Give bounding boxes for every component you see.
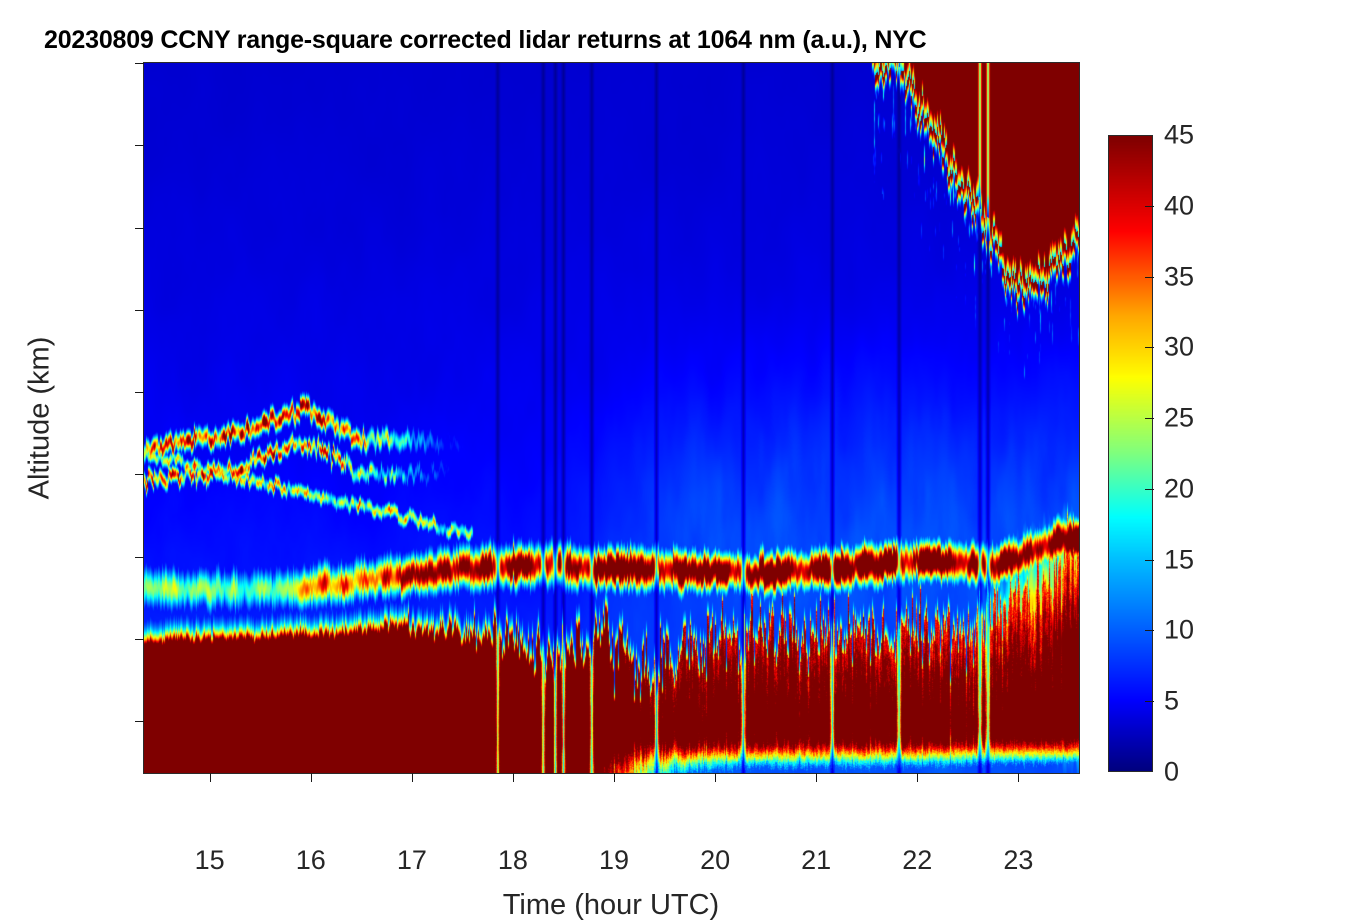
colorbar-tick-label: 30 — [1164, 332, 1194, 363]
colorbar-tick — [1145, 701, 1154, 702]
x-axis-label: Time (hour UTC) — [503, 889, 719, 922]
y-tick — [135, 721, 144, 722]
colorbar-tick-label: 15 — [1164, 544, 1194, 575]
y-tick — [135, 557, 144, 558]
colorbar-tick — [1145, 630, 1154, 631]
x-tick — [513, 773, 514, 782]
colorbar-tick-label: 20 — [1164, 473, 1194, 504]
x-tick — [311, 773, 312, 782]
colorbar-tick — [1145, 560, 1154, 561]
colorbar-tick-label: 35 — [1164, 261, 1194, 292]
colorbar-tick — [1145, 347, 1154, 348]
colorbar-tick-label: 10 — [1164, 615, 1194, 646]
colorbar-tick — [1145, 418, 1154, 419]
colorbar: 051015202530354045 — [1108, 135, 1153, 772]
colorbar-tick — [1145, 277, 1154, 278]
x-tick — [816, 773, 817, 782]
colorbar-tick-label: 5 — [1164, 686, 1179, 717]
x-tick — [412, 773, 413, 782]
colorbar-tick — [1145, 489, 1154, 490]
x-tick-label: 18 — [473, 845, 553, 876]
x-tick — [917, 773, 918, 782]
y-tick — [135, 392, 144, 393]
y-tick — [135, 228, 144, 229]
colorbar-tick-label: 0 — [1164, 757, 1179, 788]
x-tick — [1018, 773, 1019, 782]
y-tick — [135, 639, 144, 640]
x-tick-label: 22 — [877, 845, 957, 876]
y-axis-label: Altitude (km) — [24, 337, 57, 500]
y-tick — [135, 63, 144, 64]
page-title: 20230809 CCNY range-square corrected lid… — [44, 26, 927, 55]
x-tick — [715, 773, 716, 782]
x-tick-label: 19 — [574, 845, 654, 876]
x-tick-label: 16 — [271, 845, 351, 876]
plot-axes: 123456789 151617181920212223 Altitude (k… — [143, 62, 1080, 774]
x-tick — [614, 773, 615, 782]
x-tick-label: 15 — [170, 845, 250, 876]
y-tick — [135, 474, 144, 475]
x-tick-label: 17 — [372, 845, 452, 876]
colorbar-gradient — [1108, 135, 1153, 772]
colorbar-tick-label: 45 — [1164, 120, 1194, 151]
x-tick-label: 23 — [978, 845, 1058, 876]
y-tick — [135, 310, 144, 311]
colorbar-tick-label: 40 — [1164, 190, 1194, 221]
colorbar-tick-label: 25 — [1164, 403, 1194, 434]
heatmap-image — [144, 63, 1079, 773]
figure-root: 20230809 CCNY range-square corrected lid… — [0, 0, 1350, 900]
x-tick-label: 21 — [776, 845, 856, 876]
x-tick-label: 20 — [675, 845, 755, 876]
colorbar-tick — [1145, 206, 1154, 207]
x-tick — [210, 773, 211, 782]
y-tick — [135, 145, 144, 146]
